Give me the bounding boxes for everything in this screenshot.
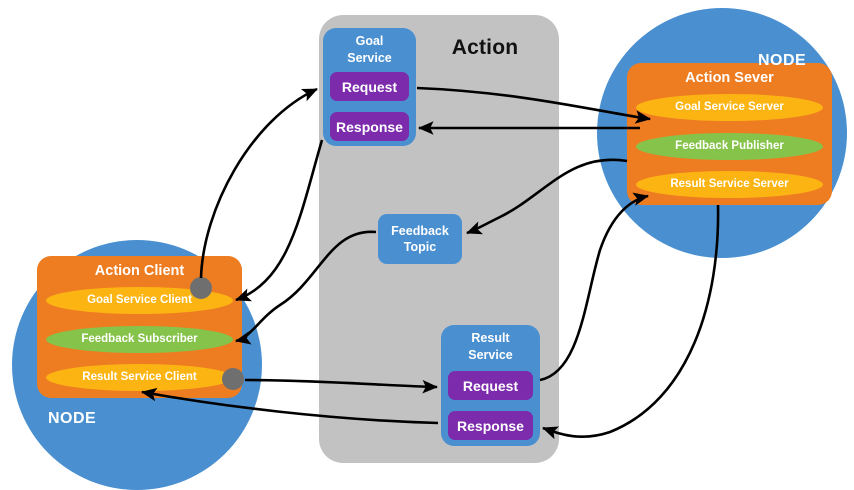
pill-feedback-subscriber: Feedback Subscriber — [46, 326, 233, 353]
result-service-title: Result Service — [441, 330, 540, 363]
result-service-client-connector-dot — [222, 368, 244, 390]
goal-service-client-connector-dot — [190, 277, 212, 299]
result-service-request: Request — [448, 371, 533, 400]
action-client-title: Action Client — [37, 263, 242, 279]
server-node-label: NODE — [758, 52, 806, 70]
feedback-topic-card: Feedback Topic — [378, 214, 462, 264]
feedback-topic-line1: Feedback — [391, 224, 449, 238]
diagram-canvas: Action NODE Action Client Goal Service C… — [0, 0, 854, 480]
goal-service-title: Goal Service — [323, 33, 416, 66]
result-service-title-line1: Result — [471, 331, 509, 345]
action-server-title: Action Sever — [627, 70, 832, 86]
goal-service-card: Goal Service Request Response — [323, 28, 416, 146]
feedback-topic-text: Feedback Topic — [391, 223, 449, 256]
result-service-response: Response — [448, 411, 533, 440]
action-client-box: Action Client Goal Service Client Feedba… — [37, 256, 242, 398]
goal-service-response: Response — [330, 112, 409, 141]
pill-result-service-server: Result Service Server — [636, 171, 823, 198]
pill-feedback-publisher: Feedback Publisher — [636, 133, 823, 160]
feedback-topic-line2: Topic — [404, 240, 436, 254]
goal-service-title-line2: Service — [347, 51, 391, 65]
pill-result-service-client: Result Service Client — [46, 364, 233, 391]
client-node-label: NODE — [48, 410, 96, 428]
goal-service-title-line1: Goal — [356, 34, 384, 48]
action-server-box: Action Sever Goal Service Server Feedbac… — [627, 63, 832, 205]
action-panel-title: Action — [420, 36, 550, 60]
pill-goal-service-server: Goal Service Server — [636, 94, 823, 121]
arrow-goalclient-to-request — [201, 89, 317, 278]
result-service-title-line2: Service — [468, 348, 512, 362]
arrow-response-to-goalclient — [236, 140, 322, 300]
goal-service-request: Request — [330, 72, 409, 101]
result-service-card: Result Service Request Response — [441, 325, 540, 446]
